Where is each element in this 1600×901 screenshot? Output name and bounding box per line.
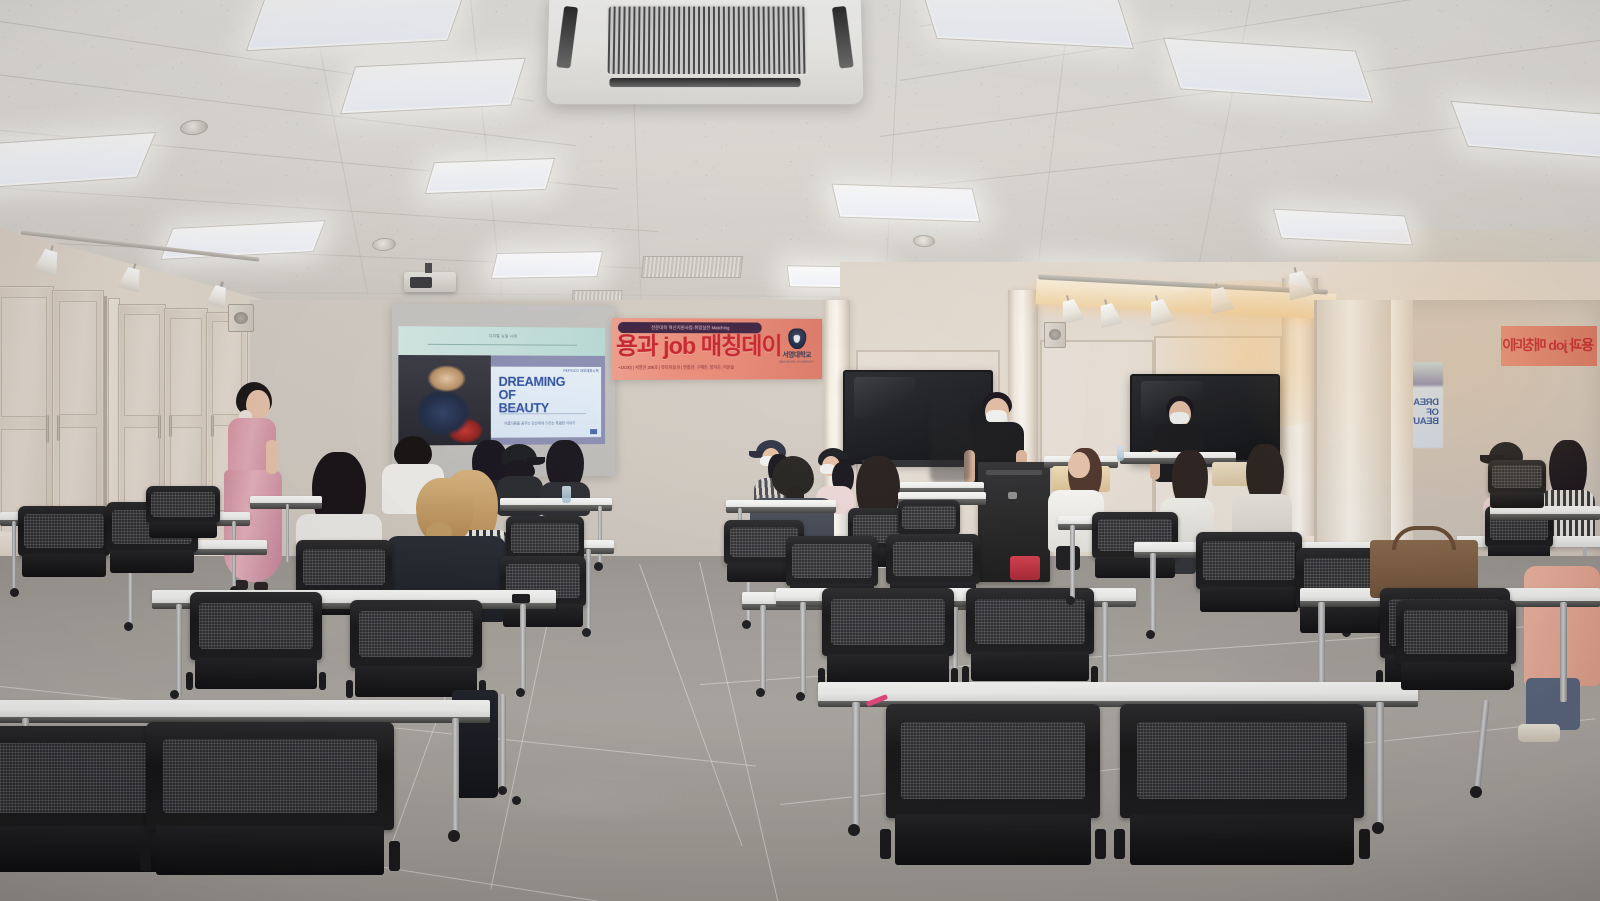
air-conditioner-grille bbox=[606, 5, 809, 76]
chair-seat bbox=[195, 658, 316, 689]
slide-header-band: 디지털 뉴딜 시대 bbox=[398, 326, 605, 356]
desk-caster bbox=[848, 824, 860, 836]
chair-caster bbox=[1470, 786, 1482, 798]
chair-seat bbox=[971, 652, 1089, 682]
presentation-slide: 디지털 뉴딜 시대 PEPSICO 아모레퍼시픽 DREAMING OF BEA… bbox=[398, 326, 605, 445]
slide-note: 아름다움을 꿈꾸는 당신에게 드리는 특별한 이야기 bbox=[504, 420, 575, 425]
desk-leg bbox=[232, 521, 236, 589]
chair-seat bbox=[827, 654, 948, 685]
chair-back bbox=[1488, 460, 1546, 494]
desk-leg bbox=[852, 702, 860, 830]
hair bbox=[546, 440, 584, 488]
slide-photo bbox=[398, 355, 490, 446]
mirror-banner-title: 용과 job 매칭데이 bbox=[1501, 326, 1597, 364]
chair-seat bbox=[156, 826, 384, 874]
chair-seat bbox=[22, 554, 107, 576]
chair-back bbox=[296, 540, 392, 593]
chair-seat bbox=[1490, 492, 1543, 507]
chair-back bbox=[966, 588, 1094, 654]
slide-title-line2: OF bbox=[499, 388, 516, 402]
chair[interactable] bbox=[146, 486, 220, 550]
chair-arm bbox=[346, 680, 353, 698]
chair-arm bbox=[186, 672, 193, 690]
chair-seat bbox=[1200, 587, 1298, 612]
desk-leg bbox=[520, 604, 526, 694]
desk-leg bbox=[760, 605, 766, 693]
slide-rule bbox=[500, 413, 586, 414]
chair-back bbox=[886, 534, 980, 584]
desk-leg bbox=[1560, 602, 1567, 702]
slide-badge bbox=[590, 429, 597, 434]
projector-mount bbox=[425, 263, 432, 273]
cabinet-handle[interactable] bbox=[211, 415, 214, 437]
ceiling-light-panel bbox=[491, 251, 603, 279]
ac-vane bbox=[609, 78, 800, 87]
slide-title-line1: DREAMING bbox=[499, 375, 566, 389]
water-bottle[interactable] bbox=[562, 486, 571, 503]
front-desk bbox=[900, 482, 984, 489]
cabinet-panel bbox=[59, 301, 97, 415]
ceiling-light-panel bbox=[340, 58, 526, 115]
cabinet-lid-seam bbox=[986, 470, 1042, 475]
chair[interactable] bbox=[1196, 532, 1302, 630]
chair-seat bbox=[110, 550, 195, 572]
desk[interactable] bbox=[250, 496, 322, 504]
cabinet-panel bbox=[170, 318, 202, 416]
desk-leg bbox=[800, 602, 806, 698]
university-name-en: SEOYEONG UNIVERSITY bbox=[776, 360, 817, 364]
desk-caster bbox=[756, 688, 765, 697]
chair-back bbox=[190, 592, 322, 660]
cabinet-handle[interactable] bbox=[158, 415, 161, 439]
chair-seat bbox=[895, 814, 1092, 865]
desk-caster bbox=[170, 690, 179, 699]
chair-seat bbox=[1095, 557, 1174, 578]
desk-leg bbox=[12, 521, 16, 591]
desk-caster bbox=[124, 622, 133, 631]
desk-leg bbox=[598, 506, 602, 566]
desk-caster bbox=[796, 692, 805, 701]
shoe bbox=[1518, 724, 1560, 742]
chair-arm bbox=[389, 841, 400, 871]
desk-caster bbox=[448, 830, 460, 842]
red-tote-bag[interactable] bbox=[1010, 556, 1040, 580]
chair-back bbox=[886, 704, 1100, 818]
cabinet-handle[interactable] bbox=[57, 415, 60, 441]
projector-lens bbox=[410, 277, 432, 288]
chair-seat bbox=[1130, 814, 1354, 865]
slide-brand-text: PEPSICO 아모레퍼시픽 bbox=[563, 367, 599, 372]
desk[interactable] bbox=[500, 498, 612, 506]
university-logo: 서영대학교 SEOYEONG UNIVERSITY bbox=[776, 328, 817, 363]
desk[interactable] bbox=[726, 500, 836, 508]
desk-leg bbox=[1070, 525, 1075, 599]
event-banner: 전문대학 혁신지원사업-취업실전 Matching 용과 job 매칭데이 ~1… bbox=[612, 318, 822, 380]
cabinet-handle[interactable] bbox=[169, 415, 172, 437]
chair-back bbox=[822, 588, 954, 656]
arm bbox=[266, 440, 278, 474]
chair-back bbox=[1196, 532, 1302, 589]
water-bottle[interactable] bbox=[1117, 446, 1124, 461]
desk-caster bbox=[742, 620, 751, 629]
chair[interactable] bbox=[1488, 460, 1546, 518]
chair-back bbox=[898, 500, 960, 535]
chair[interactable] bbox=[18, 506, 110, 592]
chair-back bbox=[1396, 600, 1516, 664]
slide-subtitle: BY 뷰티미용과 bbox=[500, 408, 528, 413]
wall-speaker bbox=[228, 304, 254, 332]
desk-leg bbox=[452, 718, 459, 836]
head bbox=[1068, 452, 1090, 478]
cabinet-handle[interactable] bbox=[46, 415, 49, 443]
mirror-reflected-banner: 용과 job 매칭데이 bbox=[1501, 326, 1597, 366]
wall-speaker bbox=[1044, 322, 1066, 348]
desk-caster bbox=[594, 562, 603, 571]
desk-leg bbox=[1150, 553, 1156, 635]
ceiling-cassette-air-conditioner bbox=[546, 0, 863, 104]
chair-arm bbox=[319, 672, 326, 690]
desk-leg bbox=[286, 504, 289, 562]
desk-caster bbox=[1066, 596, 1075, 605]
desk-leg bbox=[1376, 702, 1384, 828]
chair-back bbox=[146, 722, 394, 830]
chair-arm bbox=[1095, 829, 1106, 859]
chair[interactable] bbox=[1396, 600, 1516, 710]
desk-leg bbox=[500, 694, 506, 790]
chair[interactable] bbox=[146, 722, 394, 901]
chair-arm bbox=[140, 841, 151, 871]
chair-back bbox=[18, 506, 110, 556]
ac-vane bbox=[556, 6, 578, 69]
cabinet-lock[interactable] bbox=[1008, 492, 1017, 499]
chair-back bbox=[1120, 704, 1364, 818]
desk-leg bbox=[176, 604, 182, 696]
ceiling-air-vent bbox=[641, 256, 743, 278]
classroom-photo: 디지털 뉴딜 시대 PEPSICO 아모레퍼시픽 DREAMING OF BEA… bbox=[0, 0, 1600, 901]
banner-meta-text: ~16:00) | 서영관 206호 | 뷰티미용과 | 면접관: 구혜진, 봉… bbox=[618, 365, 777, 371]
desk[interactable] bbox=[0, 700, 490, 718]
banner-title: 용과 job 매칭데이 bbox=[616, 332, 771, 362]
chair-arm bbox=[1091, 666, 1098, 684]
chair-arm bbox=[962, 666, 969, 684]
university-name-kr: 서영대학교 bbox=[776, 350, 817, 360]
legs bbox=[1526, 678, 1580, 730]
chair-back bbox=[506, 516, 584, 560]
university-crest-icon bbox=[788, 329, 806, 349]
cabinet-panel bbox=[124, 314, 160, 416]
desk-caster bbox=[498, 786, 507, 795]
chair-seat bbox=[149, 522, 217, 539]
desk-caster bbox=[1146, 630, 1155, 639]
slide-card: PEPSICO 아모레퍼시픽 DREAMING OF BEAUTY BY 뷰티미… bbox=[491, 366, 601, 438]
chair-seat bbox=[1401, 662, 1511, 691]
ceiling-light-panel bbox=[831, 184, 980, 223]
person-shadow-on-monitor bbox=[930, 394, 970, 482]
ceiling-light-panel bbox=[425, 158, 556, 194]
face-mask bbox=[1170, 412, 1189, 424]
chair-arm bbox=[1359, 829, 1370, 859]
cabinet-panel bbox=[1, 297, 47, 417]
slide-header-rule bbox=[428, 344, 577, 346]
smartphone-on-desk[interactable] bbox=[512, 594, 530, 603]
chair-arm bbox=[1114, 829, 1125, 859]
slide-body: PEPSICO 아모레퍼시픽 DREAMING OF BEAUTY BY 뷰티미… bbox=[398, 355, 605, 446]
chair-arm bbox=[880, 829, 891, 859]
desk[interactable] bbox=[818, 682, 1418, 702]
chair-back bbox=[146, 486, 220, 523]
chair[interactable] bbox=[886, 704, 1100, 900]
chair-back bbox=[350, 600, 482, 668]
desk-caster bbox=[512, 796, 521, 805]
chair-back bbox=[786, 536, 878, 586]
ceiling-projector bbox=[404, 272, 456, 292]
chair[interactable] bbox=[1120, 704, 1364, 900]
legs bbox=[1056, 546, 1080, 570]
ac-vane bbox=[832, 6, 854, 69]
desk-leg bbox=[586, 549, 591, 631]
desk[interactable] bbox=[898, 492, 986, 500]
desk-caster bbox=[516, 688, 525, 697]
slide-header-caption: 디지털 뉴딜 시대 bbox=[457, 333, 548, 339]
chair[interactable] bbox=[190, 592, 322, 710]
desk-caster bbox=[1372, 822, 1384, 834]
